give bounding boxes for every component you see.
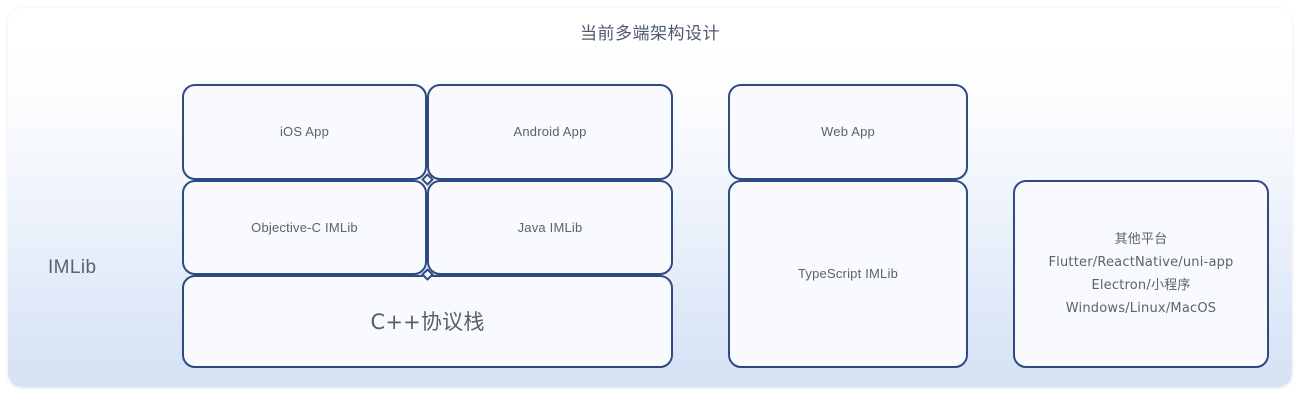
architecture-diagram: 当前多端架构设计 IMLib iOS App Android App Objec…: [0, 0, 1302, 402]
node-objective-c-imlib[interactable]: Objective-C IMLib: [182, 180, 427, 275]
node-other-platforms-line-2: Flutter/ReactNative/uni-app: [1015, 251, 1267, 274]
node-java-imlib[interactable]: Java IMLib: [427, 180, 673, 275]
node-web-app-label: Web App: [730, 123, 966, 141]
node-other-platforms[interactable]: 其他平台 Flutter/ReactNative/uni-app Electro…: [1013, 180, 1269, 368]
node-other-platforms-line-4: Windows/Linux/MacOS: [1015, 297, 1267, 320]
node-other-platforms-line-3: Electron/小程序: [1015, 274, 1267, 297]
node-objective-c-imlib-label: Objective-C IMLib: [184, 219, 425, 237]
node-cpp-protocol-stack[interactable]: C++协议栈: [182, 275, 673, 368]
node-typescript-imlib-label: TypeScript IMLib: [730, 265, 966, 283]
node-cpp-protocol-stack-label: C++协议栈: [184, 308, 671, 336]
page-title: 当前多端架构设计: [8, 23, 1292, 45]
node-java-imlib-label: Java IMLib: [429, 219, 671, 237]
node-typescript-imlib[interactable]: TypeScript IMLib: [728, 180, 968, 368]
node-ios-app-label: iOS App: [184, 123, 425, 141]
diagram-panel: 当前多端架构设计 IMLib iOS App Android App Objec…: [8, 8, 1292, 387]
node-android-app[interactable]: Android App: [427, 84, 673, 180]
imlib-group-label: IMLib: [48, 256, 168, 280]
node-android-app-label: Android App: [429, 123, 671, 141]
node-ios-app[interactable]: iOS App: [182, 84, 427, 180]
node-web-app[interactable]: Web App: [728, 84, 968, 180]
node-other-platforms-line-1: 其他平台: [1015, 228, 1267, 251]
